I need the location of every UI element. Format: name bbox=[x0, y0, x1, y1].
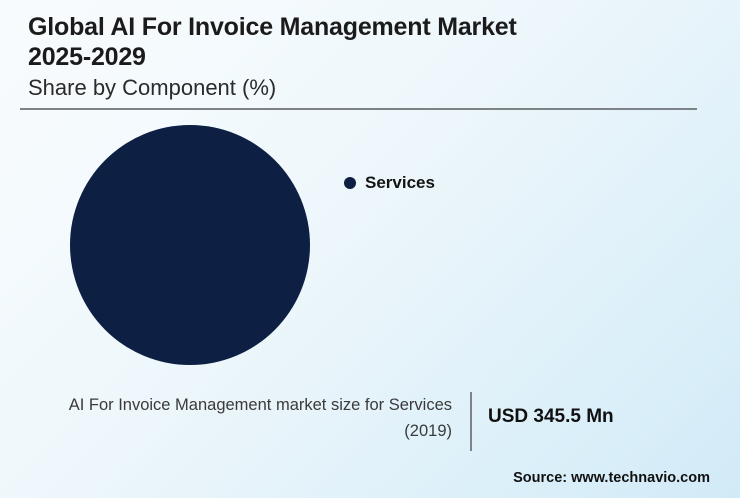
stat-vertical-divider bbox=[470, 392, 472, 451]
stat-caption: AI For Invoice Management market size fo… bbox=[20, 392, 452, 444]
circle-dot-icon bbox=[344, 177, 356, 189]
header-divider bbox=[20, 108, 697, 110]
chart-title-line-2: 2025-2029 bbox=[28, 42, 708, 72]
stat-value: USD 345.5 Mn bbox=[488, 406, 614, 428]
pie-chart bbox=[70, 125, 310, 365]
chart-legend: Services bbox=[344, 174, 435, 191]
legend-item-services[interactable]: Services bbox=[344, 174, 435, 191]
chart-title-line-1: Global AI For Invoice Management Market bbox=[28, 12, 708, 42]
legend-item-label: Services bbox=[365, 174, 435, 191]
footer-statistic: AI For Invoice Management market size fo… bbox=[20, 392, 720, 454]
infographic-canvas: Global AI For Invoice Management Market … bbox=[0, 0, 740, 498]
chart-header: Global AI For Invoice Management Market … bbox=[28, 12, 708, 102]
pie-slice-services bbox=[70, 125, 310, 365]
source-attribution: Source: www.technavio.com bbox=[513, 470, 710, 486]
chart-subtitle: Share by Component (%) bbox=[28, 74, 708, 102]
